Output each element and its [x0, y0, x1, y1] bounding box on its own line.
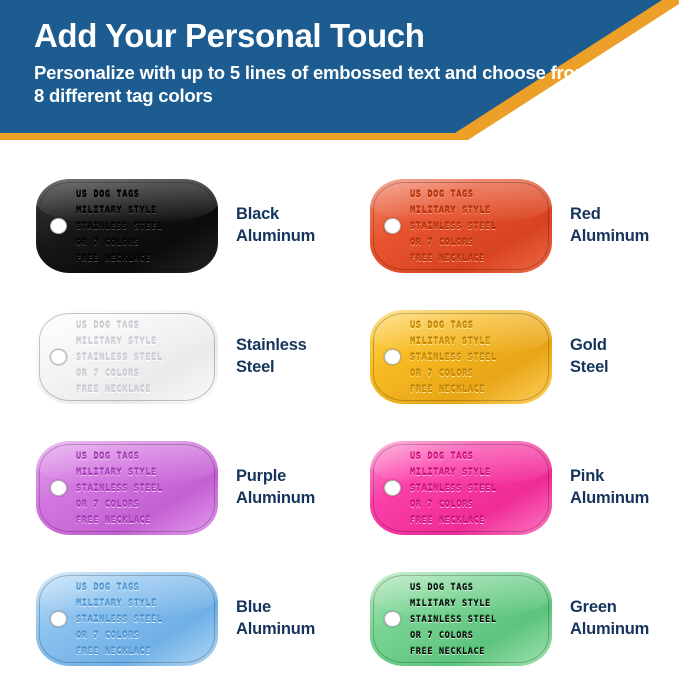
embossed-text-line: OR 7 COLORS: [76, 367, 210, 382]
page-title: Add Your Personal Touch: [34, 18, 594, 55]
embossed-text-line: STAINLESS STEEL: [76, 351, 210, 366]
chain-hole-icon: [50, 349, 67, 365]
dog-tag-preview[interactable]: US DOG TAGSMILITARY STYLESTAINLESS STEEL…: [370, 572, 552, 666]
tag-color-label: Stainless Steel: [236, 335, 307, 377]
tag-option-cell[interactable]: US DOG TAGSMILITARY STYLESTAINLESS STEEL…: [0, 422, 340, 553]
tag-color-label: Green Aluminum: [570, 597, 649, 639]
tag-color-label: Black Aluminum: [236, 204, 315, 246]
dog-tag-preview[interactable]: US DOG TAGSMILITARY STYLESTAINLESS STEEL…: [36, 310, 218, 404]
chain-hole-icon: [384, 611, 401, 627]
embossed-text-line: US DOG TAGS: [76, 188, 210, 203]
embossed-text-line: FREE NECKLACE: [410, 514, 544, 529]
embossed-text-line: MILITARY STYLE: [410, 466, 544, 481]
embossed-text-line: FREE NECKLACE: [76, 252, 210, 267]
dog-tag-preview[interactable]: US DOG TAGSMILITARY STYLESTAINLESS STEEL…: [36, 441, 218, 535]
embossed-text-line: OR 7 COLORS: [76, 498, 210, 513]
embossed-text-block: US DOG TAGSMILITARY STYLESTAINLESS STEEL…: [410, 188, 544, 267]
embossed-text-block: US DOG TAGSMILITARY STYLESTAINLESS STEEL…: [410, 319, 544, 398]
tag-option-cell[interactable]: US DOG TAGSMILITARY STYLESTAINLESS STEEL…: [0, 160, 340, 291]
header-banner: Add Your Personal Touch Personalize with…: [0, 0, 679, 145]
embossed-text-line: FREE NECKLACE: [410, 645, 544, 660]
product-infographic: Add Your Personal Touch Personalize with…: [0, 0, 679, 686]
embossed-text-line: US DOG TAGS: [76, 450, 210, 465]
embossed-text-line: STAINLESS STEEL: [410, 613, 544, 628]
embossed-text-block: US DOG TAGSMILITARY STYLESTAINLESS STEEL…: [76, 188, 210, 267]
chain-hole-icon: [384, 218, 401, 234]
embossed-text-line: MILITARY STYLE: [410, 204, 544, 219]
tag-color-grid: US DOG TAGSMILITARY STYLESTAINLESS STEEL…: [0, 160, 679, 686]
tag-option-cell[interactable]: US DOG TAGSMILITARY STYLESTAINLESS STEEL…: [0, 553, 340, 684]
embossed-text-line: US DOG TAGS: [410, 450, 544, 465]
embossed-text-line: STAINLESS STEEL: [410, 220, 544, 235]
embossed-text-line: MILITARY STYLE: [76, 466, 210, 481]
banner-text-block: Add Your Personal Touch Personalize with…: [34, 18, 594, 108]
embossed-text-line: OR 7 COLORS: [410, 367, 544, 382]
embossed-text-line: MILITARY STYLE: [410, 335, 544, 350]
tag-option-cell[interactable]: US DOG TAGSMILITARY STYLESTAINLESS STEEL…: [340, 553, 679, 684]
embossed-text-line: US DOG TAGS: [76, 319, 210, 334]
dog-tag-preview[interactable]: US DOG TAGSMILITARY STYLESTAINLESS STEEL…: [370, 179, 552, 273]
chain-hole-icon: [384, 480, 401, 496]
dog-tag-preview[interactable]: US DOG TAGSMILITARY STYLESTAINLESS STEEL…: [370, 441, 552, 535]
tag-color-label: Red Aluminum: [570, 204, 649, 246]
tag-option-cell[interactable]: US DOG TAGSMILITARY STYLESTAINLESS STEEL…: [340, 422, 679, 553]
embossed-text-line: FREE NECKLACE: [76, 383, 210, 398]
dog-tag-preview[interactable]: US DOG TAGSMILITARY STYLESTAINLESS STEEL…: [36, 572, 218, 666]
embossed-text-line: OR 7 COLORS: [410, 629, 544, 644]
embossed-text-block: US DOG TAGSMILITARY STYLESTAINLESS STEEL…: [410, 450, 544, 529]
embossed-text-line: OR 7 COLORS: [76, 629, 210, 644]
embossed-text-line: STAINLESS STEEL: [410, 351, 544, 366]
embossed-text-line: STAINLESS STEEL: [76, 482, 210, 497]
embossed-text-line: FREE NECKLACE: [76, 645, 210, 660]
tag-color-label: Gold Steel: [570, 335, 608, 377]
tag-color-label: Purple Aluminum: [236, 466, 315, 508]
embossed-text-line: OR 7 COLORS: [410, 498, 544, 513]
embossed-text-line: FREE NECKLACE: [76, 514, 210, 529]
embossed-text-line: MILITARY STYLE: [76, 597, 210, 612]
tag-option-cell[interactable]: US DOG TAGSMILITARY STYLESTAINLESS STEEL…: [340, 160, 679, 291]
tag-color-label: Blue Aluminum: [236, 597, 315, 639]
chain-hole-icon: [384, 349, 401, 365]
chain-hole-icon: [50, 218, 67, 234]
tag-option-cell[interactable]: US DOG TAGSMILITARY STYLESTAINLESS STEEL…: [0, 291, 340, 422]
chain-hole-icon: [50, 611, 67, 627]
embossed-text-block: US DOG TAGSMILITARY STYLESTAINLESS STEEL…: [76, 581, 210, 660]
embossed-text-line: OR 7 COLORS: [410, 236, 544, 251]
dog-tag-preview[interactable]: US DOG TAGSMILITARY STYLESTAINLESS STEEL…: [36, 179, 218, 273]
embossed-text-line: STAINLESS STEEL: [410, 482, 544, 497]
embossed-text-line: STAINLESS STEEL: [76, 220, 210, 235]
embossed-text-line: MILITARY STYLE: [76, 335, 210, 350]
embossed-text-line: FREE NECKLACE: [410, 383, 544, 398]
embossed-text-line: US DOG TAGS: [410, 319, 544, 334]
dog-tag-preview[interactable]: US DOG TAGSMILITARY STYLESTAINLESS STEEL…: [370, 310, 552, 404]
embossed-text-block: US DOG TAGSMILITARY STYLESTAINLESS STEEL…: [410, 581, 544, 660]
embossed-text-block: US DOG TAGSMILITARY STYLESTAINLESS STEEL…: [76, 450, 210, 529]
embossed-text-line: OR 7 COLORS: [76, 236, 210, 251]
embossed-text-block: US DOG TAGSMILITARY STYLESTAINLESS STEEL…: [76, 319, 210, 398]
embossed-text-line: FREE NECKLACE: [410, 252, 544, 267]
chain-hole-icon: [50, 480, 67, 496]
embossed-text-line: US DOG TAGS: [76, 581, 210, 596]
embossed-text-line: MILITARY STYLE: [410, 597, 544, 612]
tag-color-label: Pink Aluminum: [570, 466, 649, 508]
embossed-text-line: STAINLESS STEEL: [76, 613, 210, 628]
embossed-text-line: US DOG TAGS: [410, 188, 544, 203]
embossed-text-line: US DOG TAGS: [410, 581, 544, 596]
tag-option-cell[interactable]: US DOG TAGSMILITARY STYLESTAINLESS STEEL…: [340, 291, 679, 422]
embossed-text-line: MILITARY STYLE: [76, 204, 210, 219]
page-subtitle: Personalize with up to 5 lines of emboss…: [34, 62, 594, 108]
